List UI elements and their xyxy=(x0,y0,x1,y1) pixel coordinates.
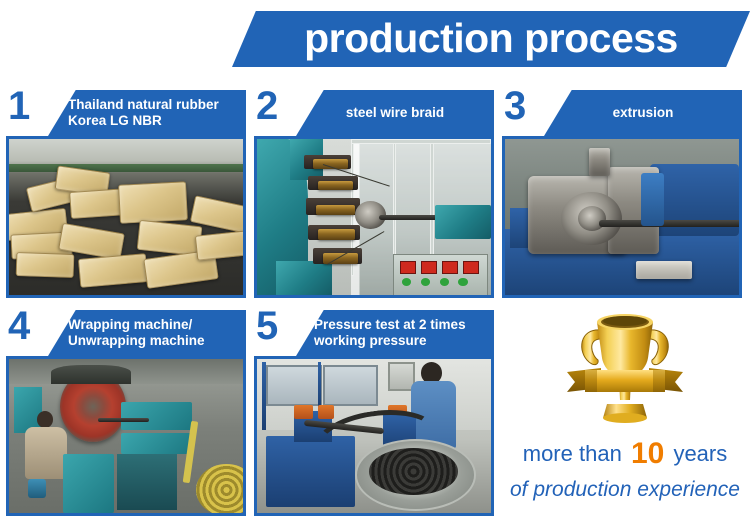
step-label-4-line-1: Wrapping machine/ xyxy=(68,317,246,333)
tagline-prefix: more than xyxy=(523,441,622,466)
step-card-1: 1 Thailand natural rubber Korea LG NBR xyxy=(6,90,246,298)
step-photo-4 xyxy=(6,356,246,516)
experience-badge: more than 10 years of production experie… xyxy=(500,305,750,525)
step-number-2: 2 xyxy=(256,86,278,126)
step-card-5: 5 Pressure test at 2 times working press… xyxy=(254,310,494,516)
step-label-2: steel wire braid xyxy=(296,90,494,136)
step-header-2: 2 steel wire braid xyxy=(254,90,494,136)
step-number-5: 5 xyxy=(256,306,278,346)
experience-tagline-line-1: more than 10 years xyxy=(500,437,750,471)
step-label-2-line-1: steel wire braid xyxy=(346,105,444,121)
step-header-5: 5 Pressure test at 2 times working press… xyxy=(254,310,494,356)
step-label-5-line-2: working pressure xyxy=(314,333,494,349)
gold-trophy-icon xyxy=(555,308,695,426)
step-label-1-line-2: Korea LG NBR xyxy=(68,113,246,129)
step-header-4: 4 Wrapping machine/ Unwrapping machine xyxy=(6,310,246,356)
step-label-5-line-1: Pressure test at 2 times xyxy=(314,317,494,333)
step-card-2: 2 steel wire braid xyxy=(254,90,494,298)
step-label-3: extrusion xyxy=(544,90,742,136)
step-number-4: 4 xyxy=(8,306,30,346)
step-label-4: Wrapping machine/ Unwrapping machine xyxy=(48,310,246,356)
step-label-5: Pressure test at 2 times working pressur… xyxy=(296,310,494,356)
step-card-4: 4 Wrapping machine/ Unwrapping machine xyxy=(6,310,246,516)
header-banner: production process xyxy=(232,11,750,67)
experience-tagline-line-2: of production experience xyxy=(500,478,750,502)
step-label-3-line-1: extrusion xyxy=(613,105,674,121)
step-label-4-line-2: Unwrapping machine xyxy=(68,333,246,349)
step-header-3: 3 extrusion xyxy=(502,90,742,136)
step-photo-1 xyxy=(6,136,246,298)
step-photo-5 xyxy=(254,356,494,516)
step-label-1: Thailand natural rubber Korea LG NBR xyxy=(48,90,246,136)
step-photo-3 xyxy=(502,136,742,298)
step-header-1: 1 Thailand natural rubber Korea LG NBR xyxy=(6,90,246,136)
tagline-years-number: 10 xyxy=(628,437,667,470)
page-title: production process xyxy=(232,11,750,67)
tagline-suffix: years xyxy=(673,441,727,466)
step-number-1: 1 xyxy=(8,86,30,126)
step-card-3: 3 extrusion xyxy=(502,90,742,298)
step-label-1-line-1: Thailand natural rubber xyxy=(68,97,246,113)
step-photo-2 xyxy=(254,136,494,298)
step-number-3: 3 xyxy=(504,86,526,126)
